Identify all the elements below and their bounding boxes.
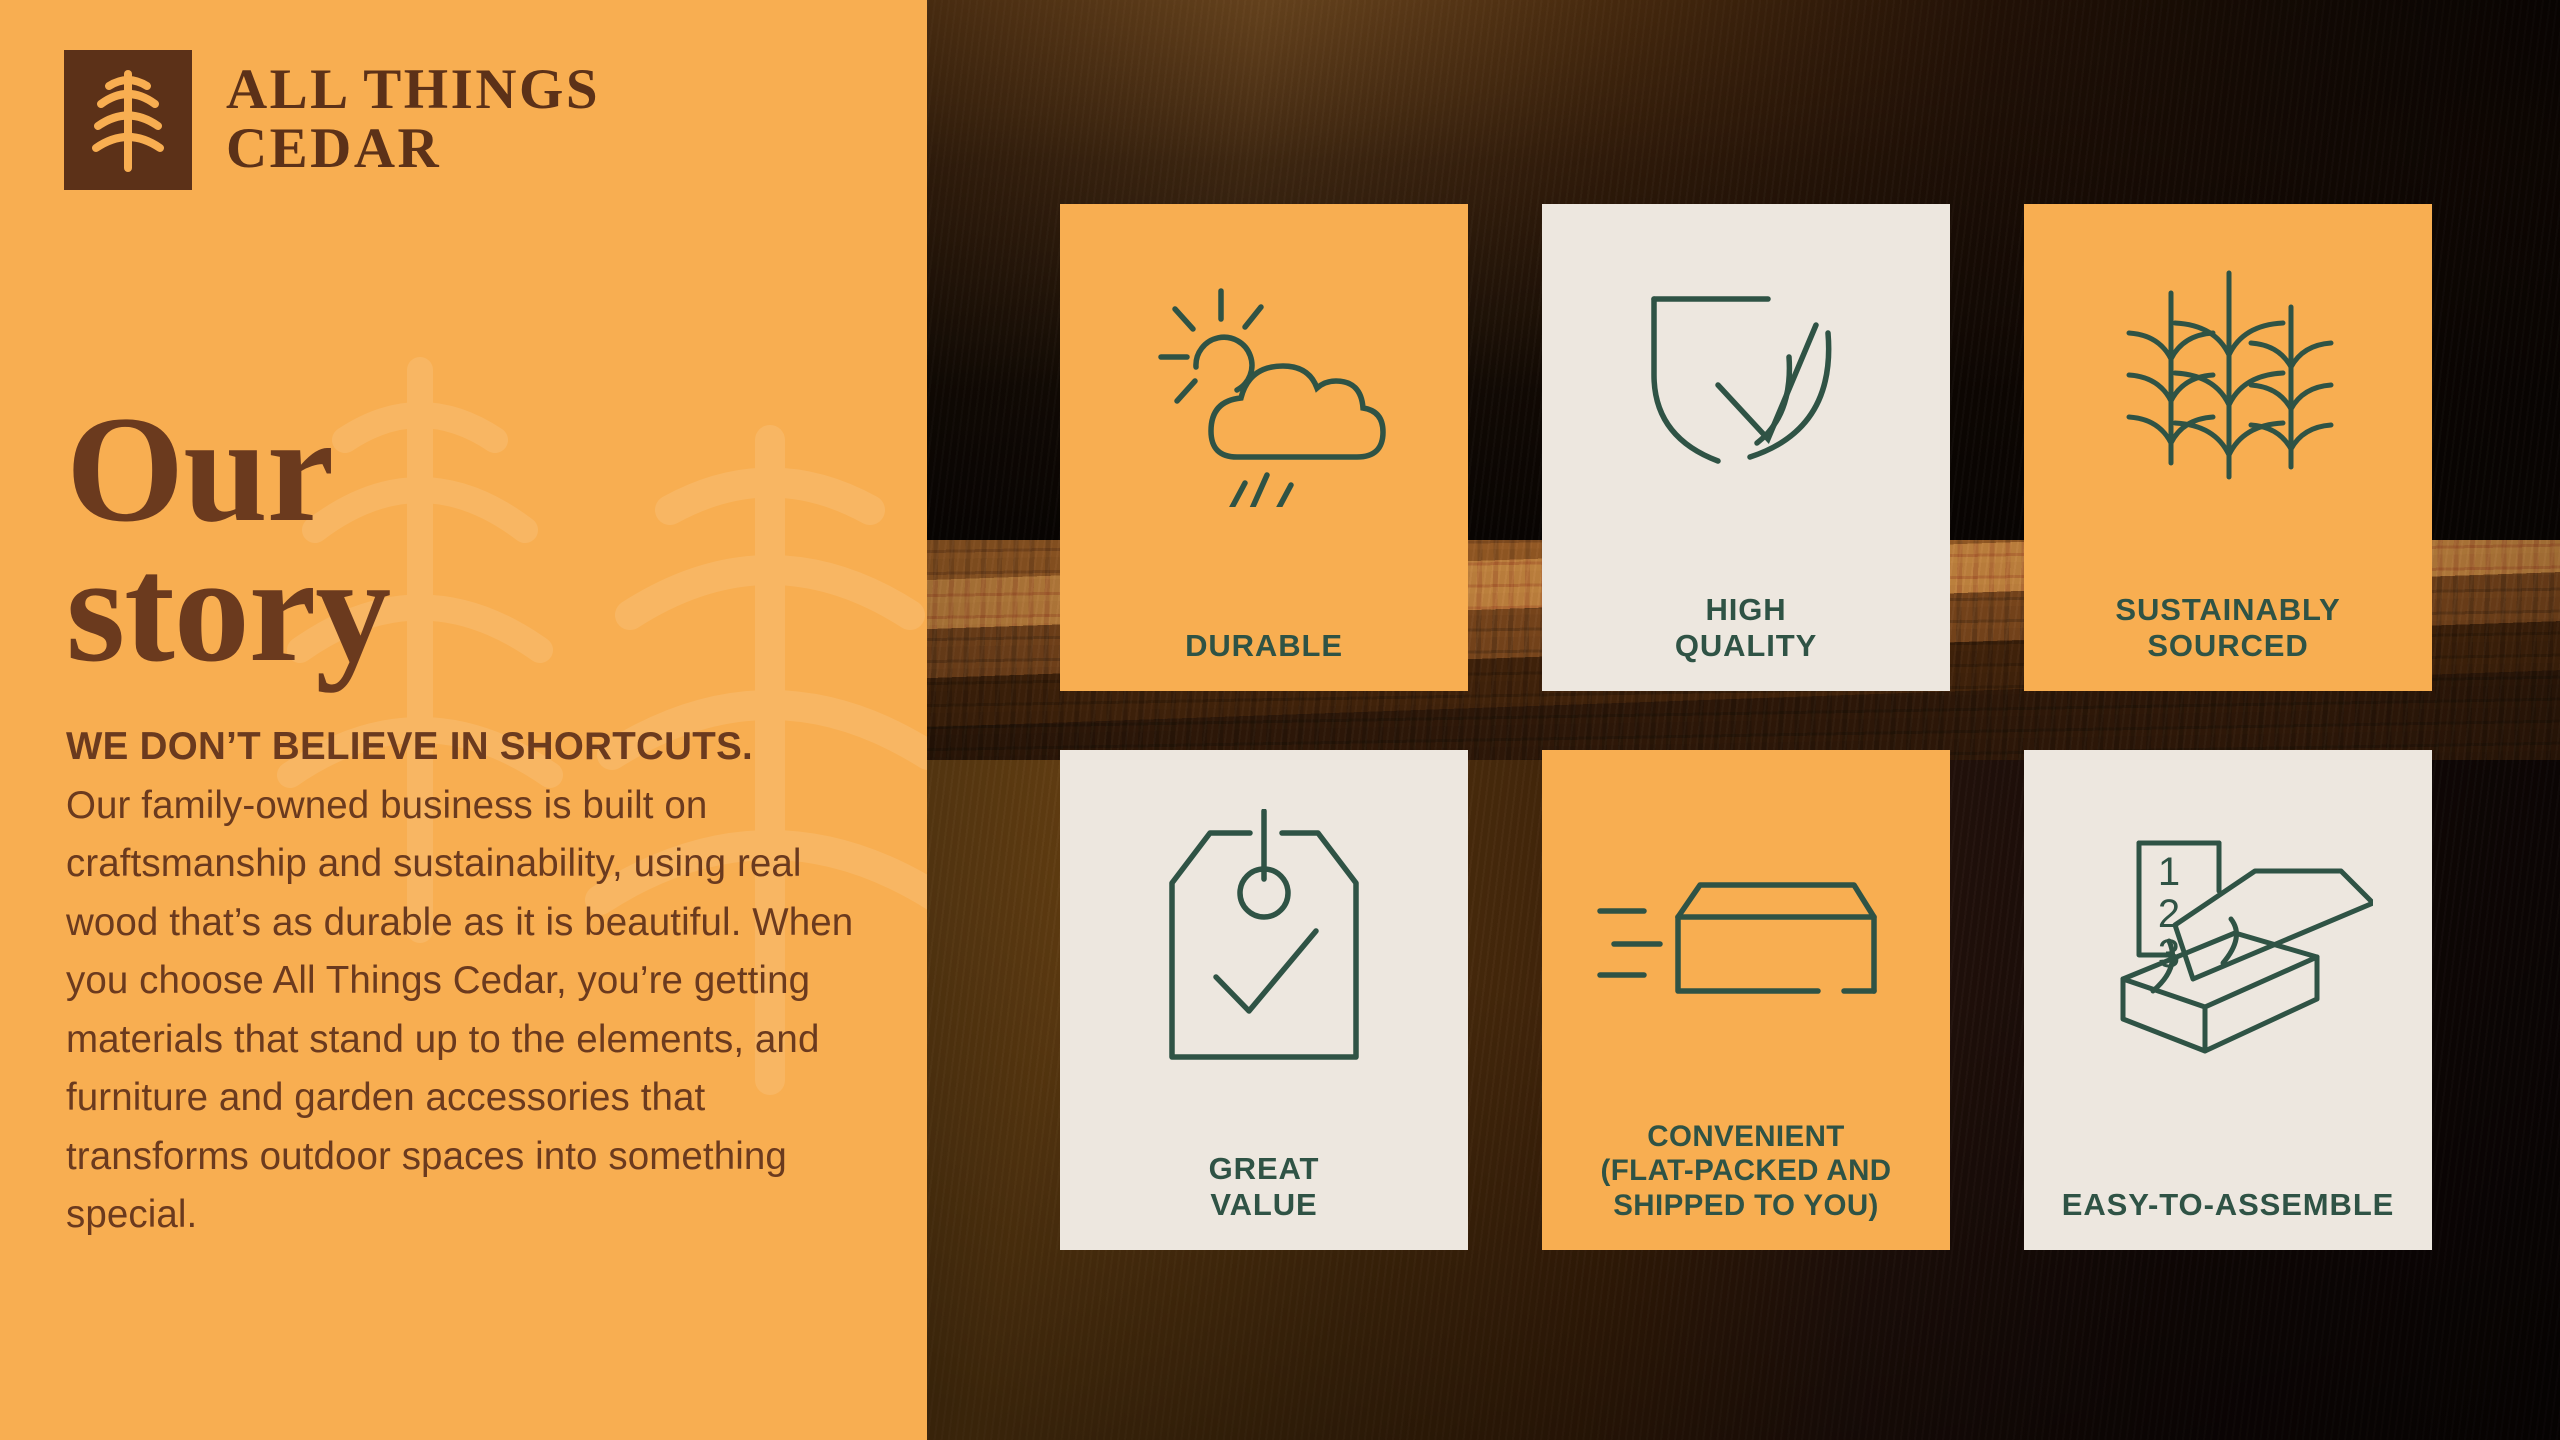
story-paragraph: WE DON’T BELIEVE IN SHORTCUTS. Our famil… <box>66 718 876 1245</box>
page-title-line2: story <box>66 540 390 680</box>
story-hero-banner: ALL THINGS CEDAR Our story WE DON’T BELI… <box>0 0 2560 1440</box>
feature-card-convenient[interactable]: CONVENIENT (FLAT-PACKED AND SHIPPED TO Y… <box>1542 750 1950 1250</box>
three-pine-trees-icon <box>2113 265 2343 500</box>
card-icon-slot <box>1542 784 1950 1104</box>
brand-wordmark: ALL THINGS CEDAR <box>226 61 600 178</box>
logo-badge <box>64 50 192 190</box>
price-tag-check-icon <box>1164 809 1364 1079</box>
page-title-line1: Our <box>66 400 390 540</box>
feature-card-label: SUSTAINABLY SOURCED <box>2024 592 2432 665</box>
card-icon-slot <box>2024 232 2432 532</box>
step-number-3: 3 <box>2158 932 2180 976</box>
feature-card-great-value[interactable]: GREAT VALUE <box>1060 750 1468 1250</box>
flat-box-shipping-icon <box>1596 869 1896 1019</box>
page-title: Our story <box>66 400 390 680</box>
brand-name-line1: ALL THINGS <box>226 61 600 120</box>
card-icon-slot <box>1542 232 1950 532</box>
brand-name-line2: CEDAR <box>226 120 600 179</box>
feature-card-label: GREAT VALUE <box>1060 1151 1468 1224</box>
feature-card-durable[interactable]: DURABLE <box>1060 204 1468 691</box>
numbered-plank-icon: 1 2 3 <box>2083 829 2373 1059</box>
story-body-text: Our family-owned business is built on cr… <box>66 784 853 1237</box>
brand-panel: ALL THINGS CEDAR Our story WE DON’T BELI… <box>0 0 927 1440</box>
feature-card-grid: DURABLE HIGH QUALITY <box>1060 204 2432 1250</box>
step-number-2: 2 <box>2158 892 2180 936</box>
feature-card-label: EASY-TO-ASSEMBLE <box>2024 1187 2432 1224</box>
step-number-1: 1 <box>2158 850 2180 894</box>
brand-lockup[interactable]: ALL THINGS CEDAR <box>64 50 600 190</box>
cedar-tree-icon <box>88 66 168 174</box>
feature-card-label: DURABLE <box>1060 628 1468 665</box>
shield-check-icon <box>1626 277 1866 487</box>
feature-card-easy-to-assemble[interactable]: 1 2 3 EASY-TO-ASSEMBLE <box>2024 750 2432 1250</box>
feature-card-label: CONVENIENT (FLAT-PACKED AND SHIPPED TO Y… <box>1542 1120 1950 1224</box>
card-icon-slot <box>1060 784 1468 1104</box>
card-icon-slot <box>1060 232 1468 532</box>
feature-card-sustainably-sourced[interactable]: SUSTAINABLY SOURCED <box>2024 204 2432 691</box>
card-icon-slot: 1 2 3 <box>2024 784 2432 1104</box>
story-lede: WE DON’T BELIEVE IN SHORTCUTS. <box>66 718 876 777</box>
sun-cloud-rain-icon <box>1139 257 1389 507</box>
feature-card-label: HIGH QUALITY <box>1542 592 1950 665</box>
feature-card-high-quality[interactable]: HIGH QUALITY <box>1542 204 1950 691</box>
